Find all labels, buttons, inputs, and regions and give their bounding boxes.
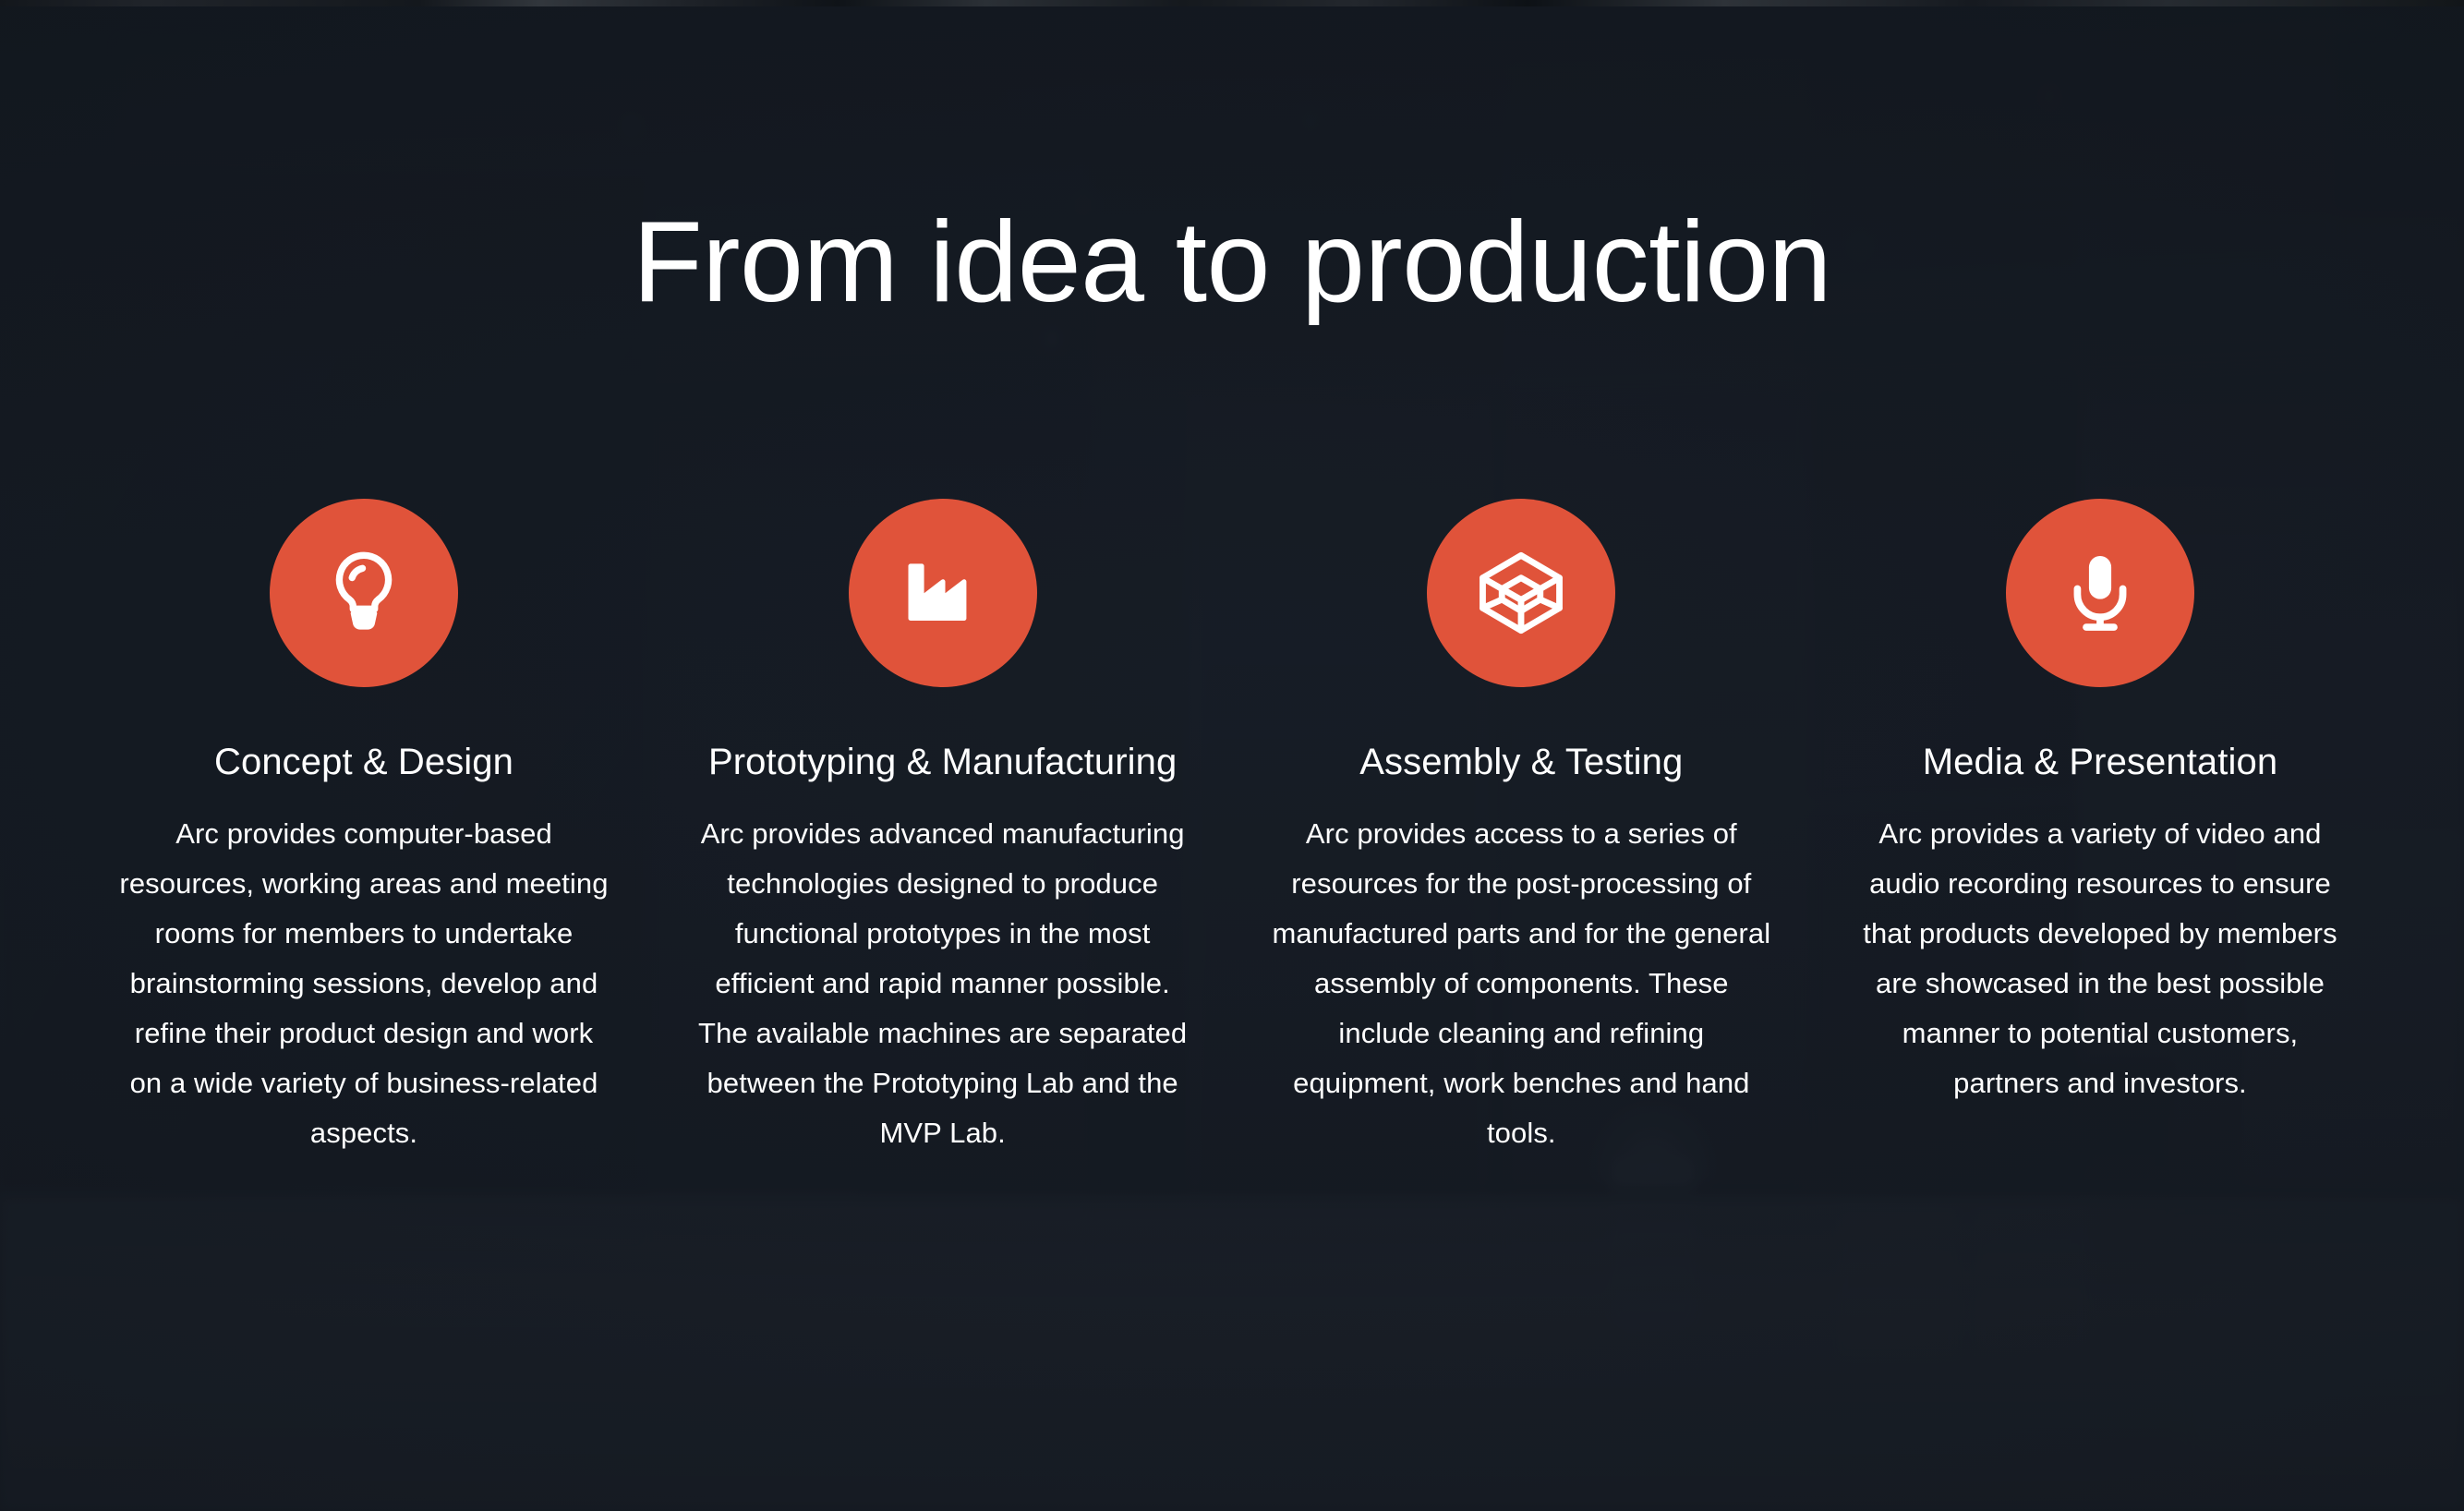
page-title: From idea to production [0, 199, 2464, 325]
wireframe-cube-icon [1472, 544, 1570, 642]
microphone-icon-badge [2006, 499, 2194, 687]
feature-column-media-presentation: Media & Presentation Arc provides a vari… [1823, 499, 2377, 1158]
microphone-icon [2054, 547, 2146, 639]
feature-columns: Concept & Design Arc provides computer-b… [87, 499, 2377, 1158]
wireframe-cube-icon-badge [1427, 499, 1615, 687]
feature-title: Concept & Design [214, 739, 513, 785]
feature-column-concept-design: Concept & Design Arc provides computer-b… [87, 499, 641, 1158]
factory-icon [897, 547, 989, 639]
feature-title: Assembly & Testing [1359, 739, 1683, 785]
feature-title: Media & Presentation [1923, 739, 2277, 785]
feature-body: Arc provides advanced manufacturing tech… [690, 809, 1196, 1158]
hero-content: From idea to production Concept & Design… [0, 0, 2464, 1511]
feature-body: Arc provides a variety of video and audi… [1851, 809, 2349, 1108]
feature-body: Arc provides computer-based resources, w… [117, 809, 610, 1158]
feature-column-prototyping-manufacturing: Prototyping & Manufacturing Arc provides… [666, 499, 1220, 1158]
feature-column-assembly-testing: Assembly & Testing Arc provides access t… [1244, 499, 1798, 1158]
top-edge-strip [0, 0, 2464, 6]
factory-icon-badge [849, 499, 1037, 687]
feature-body: Arc provides access to a series of resou… [1266, 809, 1776, 1158]
lightbulb-icon [316, 545, 412, 641]
lightbulb-icon-badge [270, 499, 458, 687]
feature-title: Prototyping & Manufacturing [708, 739, 1177, 785]
hero-section: From idea to production Concept & Design… [0, 0, 2464, 1511]
